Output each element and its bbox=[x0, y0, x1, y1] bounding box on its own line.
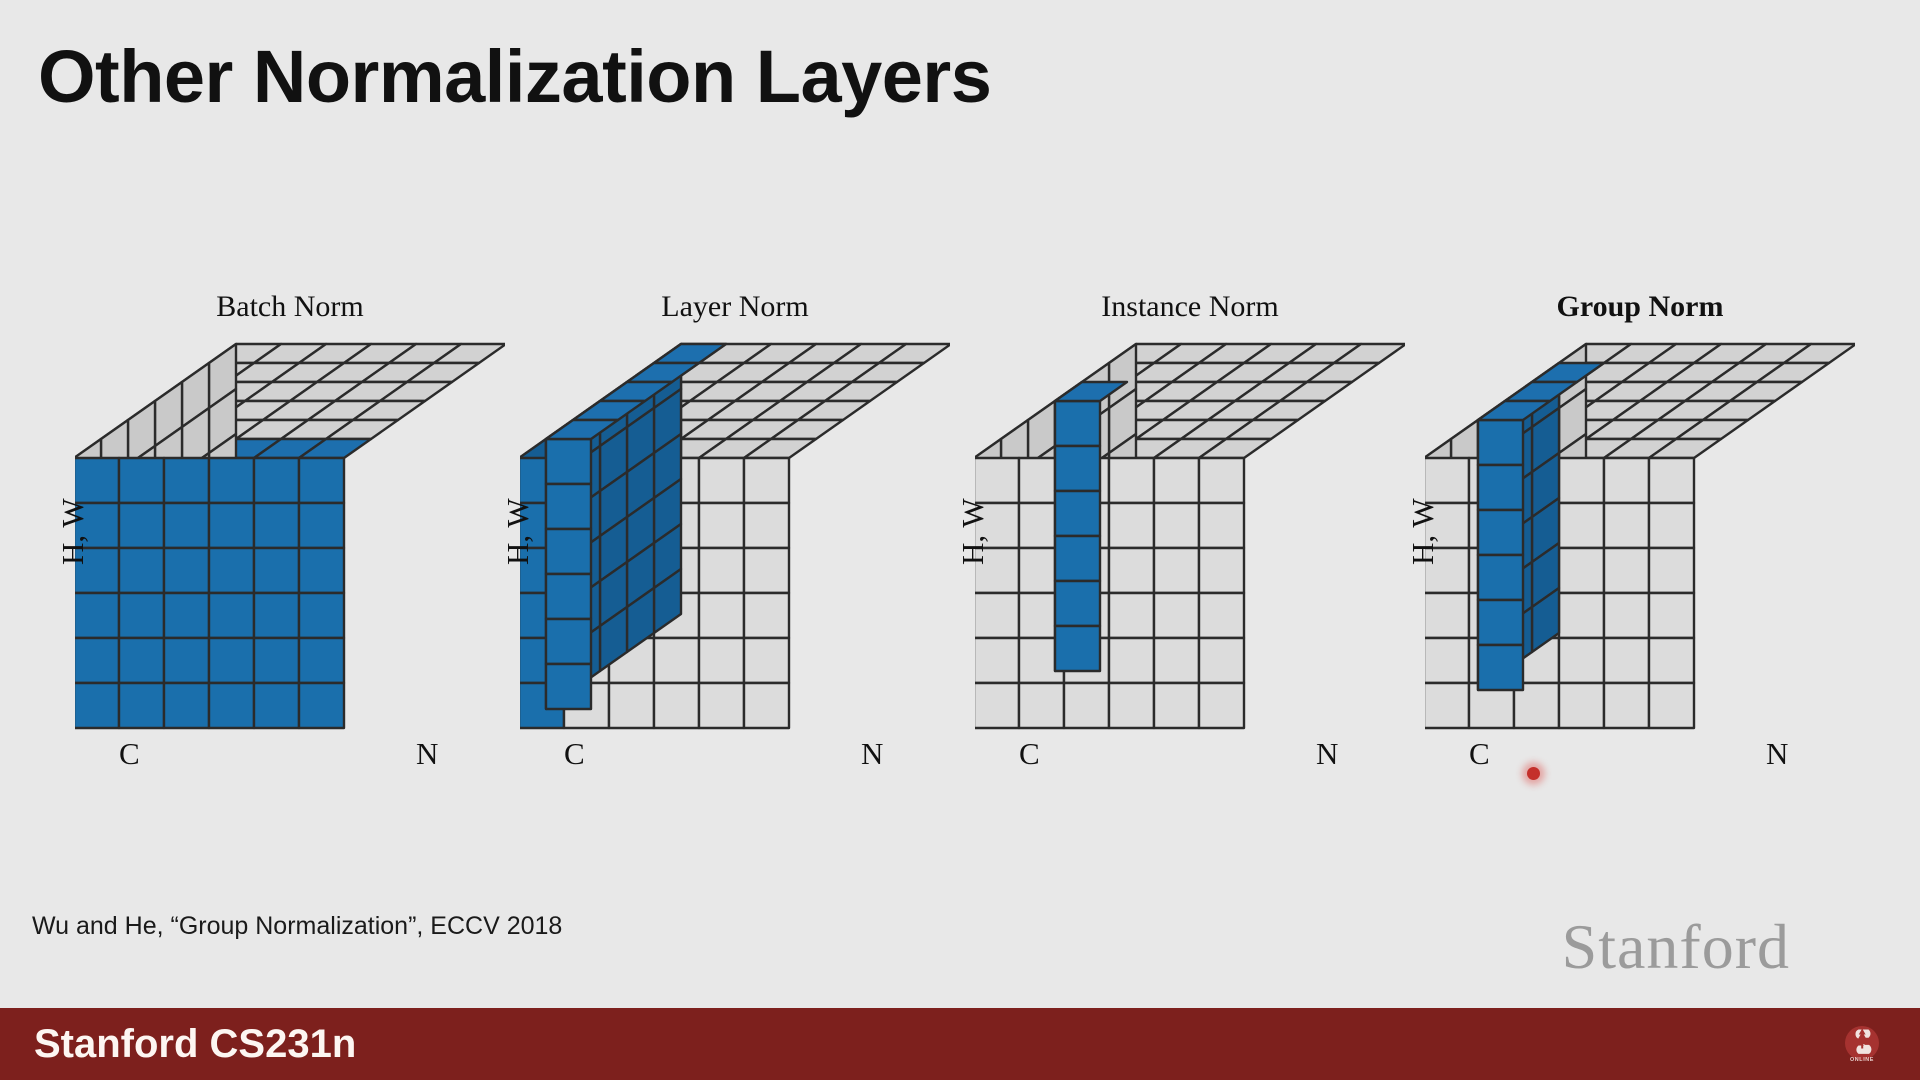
cube-cell-front bbox=[1109, 548, 1154, 593]
cube-cell-front bbox=[1559, 548, 1604, 593]
cube-cell-front bbox=[75, 683, 119, 728]
cube-cell-front bbox=[164, 503, 209, 548]
panel-title-layer-norm: Layer Norm bbox=[520, 290, 950, 324]
cube-cell-front bbox=[254, 503, 299, 548]
cube-cell-front bbox=[699, 548, 744, 593]
cube-cell-front bbox=[1154, 458, 1199, 503]
cube-cell-front bbox=[744, 593, 789, 638]
cube-cell-front bbox=[1559, 458, 1604, 503]
cube-cell-front bbox=[75, 638, 119, 683]
cube-cell-front bbox=[209, 503, 254, 548]
cube-cell-highlight-front bbox=[1055, 446, 1100, 491]
cube-cell-front bbox=[1604, 458, 1649, 503]
cube-cell-front bbox=[744, 683, 789, 728]
cube-cell-front bbox=[164, 458, 209, 503]
axis-label-hw-layer-norm: H, W bbox=[500, 498, 536, 565]
cube-cell-front bbox=[1425, 683, 1469, 728]
cube-cell-front bbox=[1425, 593, 1469, 638]
cube-cell-front bbox=[1199, 593, 1244, 638]
cube-cell-front bbox=[1199, 458, 1244, 503]
cube-cell-front bbox=[1649, 593, 1694, 638]
footer-course-title: Stanford CS231n bbox=[34, 1022, 356, 1067]
cube-cell-front bbox=[164, 548, 209, 593]
stanford-online-badge-icon: ONLINE bbox=[1840, 1022, 1884, 1066]
cube-cell-front bbox=[164, 593, 209, 638]
cube-cell-front bbox=[1154, 638, 1199, 683]
cube-cell-front bbox=[75, 593, 119, 638]
cube-cell-front bbox=[1109, 638, 1154, 683]
axis-label-hw-batch-norm: H, W bbox=[55, 498, 91, 565]
cube-cell-front bbox=[1199, 638, 1244, 683]
cube-cell-front bbox=[1559, 683, 1604, 728]
cube-cell-front bbox=[699, 458, 744, 503]
panel-title-group-norm: Group Norm bbox=[1425, 290, 1855, 324]
cube-cell-highlight-front bbox=[546, 484, 591, 529]
cube-cell-front bbox=[119, 503, 164, 548]
cube-cell-highlight-front bbox=[546, 574, 591, 619]
cube-cell-highlight-front bbox=[1478, 420, 1523, 465]
cube-cell-front bbox=[609, 683, 654, 728]
cube-cell-front bbox=[209, 548, 254, 593]
cube-cell-front bbox=[254, 683, 299, 728]
cube-cell-front bbox=[209, 638, 254, 683]
cube-cell-front bbox=[699, 503, 744, 548]
stanford-wordmark: Stanford bbox=[1562, 910, 1790, 984]
cube-cell-front bbox=[75, 458, 119, 503]
cube-cell-front bbox=[209, 683, 254, 728]
cube-cell-front bbox=[1109, 593, 1154, 638]
axis-label-n-layer-norm: N bbox=[861, 736, 883, 772]
axis-label-hw-instance-norm: H, W bbox=[955, 498, 991, 565]
panel-title-batch-norm: Batch Norm bbox=[75, 290, 505, 324]
cube-cell-front bbox=[254, 458, 299, 503]
cube-cell-highlight-front bbox=[546, 664, 591, 709]
cube-cell-front bbox=[1604, 503, 1649, 548]
cube-cell-highlight-front bbox=[546, 529, 591, 574]
axis-label-c-batch-norm: C bbox=[119, 736, 140, 772]
cube-cell-highlight-front bbox=[1478, 600, 1523, 645]
cube-cell-front bbox=[1649, 458, 1694, 503]
cube-cell-front bbox=[1154, 503, 1199, 548]
cube-cell-front bbox=[119, 638, 164, 683]
cube-cell-front bbox=[1064, 683, 1109, 728]
cube-cell-highlight-front bbox=[1055, 581, 1100, 626]
citation-text: Wu and He, “Group Normalization”, ECCV 2… bbox=[32, 912, 562, 941]
cube-cell-highlight-front bbox=[546, 619, 591, 664]
cube-svg-batch-norm bbox=[75, 332, 505, 732]
cube-cell-front bbox=[1199, 548, 1244, 593]
panel-batch-norm: Batch NormH, WCN bbox=[75, 290, 505, 790]
cube-cell-front bbox=[119, 593, 164, 638]
cube-cell-front bbox=[1109, 683, 1154, 728]
cube-svg-instance-norm bbox=[975, 332, 1405, 732]
normalization-figure: Batch NormH, WCNLayer NormH, WCNInstance… bbox=[0, 290, 1920, 790]
cube-cell-front bbox=[299, 683, 344, 728]
cube-cell-front bbox=[975, 638, 1019, 683]
cube-cell-highlight-front bbox=[1478, 510, 1523, 555]
cube-cell-front bbox=[1199, 683, 1244, 728]
cube-cell-front bbox=[254, 548, 299, 593]
cube-cell-front bbox=[119, 458, 164, 503]
axis-label-c-group-norm: C bbox=[1469, 736, 1490, 772]
cube-cell-front bbox=[1154, 593, 1199, 638]
cube-layer-norm: H, WCN bbox=[520, 332, 950, 752]
cube-cell-front bbox=[654, 683, 699, 728]
cube-cell-front bbox=[254, 593, 299, 638]
cube-cell-front bbox=[1019, 683, 1064, 728]
page-title: Other Normalization Layers bbox=[38, 38, 991, 116]
cube-cell-front bbox=[299, 548, 344, 593]
cube-cell-front bbox=[1109, 503, 1154, 548]
cube-cell-front bbox=[699, 593, 744, 638]
cube-svg-layer-norm bbox=[520, 332, 950, 732]
cube-instance-norm: H, WCN bbox=[975, 332, 1405, 752]
cube-cell-front bbox=[1604, 593, 1649, 638]
cube-cell-front bbox=[164, 638, 209, 683]
cube-cell-front bbox=[1649, 503, 1694, 548]
cube-cell-front bbox=[1199, 503, 1244, 548]
cube-cell-front bbox=[699, 638, 744, 683]
cube-cell-front bbox=[1425, 638, 1469, 683]
cube-cell-front bbox=[299, 593, 344, 638]
axis-label-c-instance-norm: C bbox=[1019, 736, 1040, 772]
cube-cell-front bbox=[209, 458, 254, 503]
axis-label-hw-group-norm: H, W bbox=[1405, 498, 1441, 565]
cube-cell-front bbox=[299, 458, 344, 503]
cube-cell-front bbox=[1154, 548, 1199, 593]
cube-cell-highlight-front bbox=[1055, 626, 1100, 671]
axis-label-c-layer-norm: C bbox=[564, 736, 585, 772]
cube-cell-front bbox=[254, 638, 299, 683]
cube-cell-front bbox=[209, 593, 254, 638]
cube-cell-highlight-front bbox=[1478, 645, 1523, 690]
panel-layer-norm: Layer NormH, WCN bbox=[520, 290, 950, 790]
cube-cell-front bbox=[699, 683, 744, 728]
panel-instance-norm: Instance NormH, WCN bbox=[975, 290, 1405, 790]
cube-cell-front bbox=[1649, 638, 1694, 683]
cube-cell-front bbox=[299, 638, 344, 683]
cube-cell-front bbox=[1559, 638, 1604, 683]
cube-cell-highlight-front bbox=[1055, 401, 1100, 446]
axis-label-n-instance-norm: N bbox=[1316, 736, 1338, 772]
cube-cell-front bbox=[1649, 548, 1694, 593]
cube-cell-front bbox=[1649, 683, 1694, 728]
slide-canvas: Other Normalization Layers Batch NormH, … bbox=[0, 0, 1920, 1080]
cube-cell-front bbox=[975, 458, 1019, 503]
panel-group-norm: Group NormH, WCN bbox=[1425, 290, 1855, 790]
axis-label-n-group-norm: N bbox=[1766, 736, 1788, 772]
cube-group-norm: H, WCN bbox=[1425, 332, 1855, 752]
svg-text:ONLINE: ONLINE bbox=[1850, 1057, 1874, 1063]
cube-cell-front bbox=[975, 683, 1019, 728]
cube-cell-front bbox=[744, 458, 789, 503]
cube-cell-front bbox=[1559, 503, 1604, 548]
cube-cell-front bbox=[1109, 458, 1154, 503]
cube-cell-front bbox=[119, 683, 164, 728]
cube-cell-highlight-front bbox=[546, 439, 591, 484]
cube-cell-front bbox=[1559, 593, 1604, 638]
cube-svg-group-norm bbox=[1425, 332, 1855, 732]
cube-cell-front bbox=[1154, 683, 1199, 728]
cube-cell-front bbox=[299, 503, 344, 548]
cube-cell-front bbox=[975, 593, 1019, 638]
cube-cell-front bbox=[164, 683, 209, 728]
panel-title-instance-norm: Instance Norm bbox=[975, 290, 1405, 324]
cube-cell-front bbox=[744, 638, 789, 683]
cube-cell-highlight-front bbox=[1478, 465, 1523, 510]
cube-cell-front bbox=[119, 548, 164, 593]
cube-cell-front bbox=[1425, 458, 1469, 503]
cube-batch-norm: H, WCN bbox=[75, 332, 505, 752]
cube-cell-front bbox=[744, 548, 789, 593]
cube-cell-front bbox=[1604, 638, 1649, 683]
cube-cell-highlight-front bbox=[1478, 555, 1523, 600]
cube-cell-highlight-front bbox=[1055, 536, 1100, 581]
cube-cell-front bbox=[1604, 683, 1649, 728]
axis-label-n-batch-norm: N bbox=[416, 736, 438, 772]
cube-cell-front bbox=[654, 638, 699, 683]
cube-cell-highlight-front bbox=[1055, 491, 1100, 536]
cube-cell-front bbox=[744, 503, 789, 548]
cube-cell-front bbox=[1604, 548, 1649, 593]
footer-bar: Stanford CS231n ONLINE bbox=[0, 1008, 1920, 1080]
